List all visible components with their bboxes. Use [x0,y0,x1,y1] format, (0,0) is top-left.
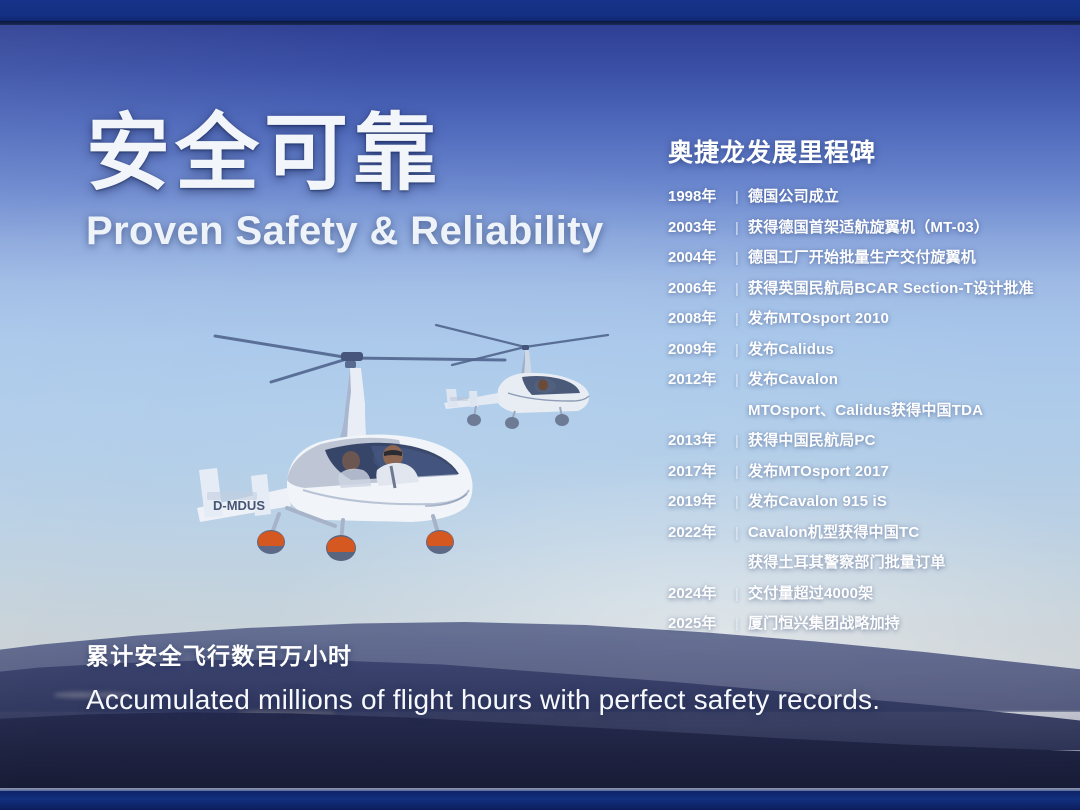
milestone-separator: | [726,341,748,357]
photographed-screen: D-MDUS 安全可靠 Proven Safety & Reliability [0,0,1080,810]
milestone-separator: | [726,249,748,265]
presentation-slide: D-MDUS 安全可靠 Proven Safety & Reliability [0,25,1080,790]
milestone-text: 发布Cavalon 915 iS [748,490,887,511]
milestone-text: 获得土耳其警察部门批量订单 [748,551,946,572]
milestone-text: 发布Cavalon [748,368,838,389]
milestone-separator: | [726,188,748,204]
milestone-row: 2004年|德国工厂开始批量生产交付旋翼机 [668,246,1068,267]
milestone-text: 发布MTOsport 2017 [748,460,889,481]
milestone-row: 2019年|发布Cavalon 915 iS [668,490,1068,511]
milestone-text: 获得英国民航局BCAR Section-T设计批准 [748,277,1034,298]
milestone-row: 2006年|获得英国民航局BCAR Section-T设计批准 [668,277,1068,298]
milestone-separator: | [726,371,748,387]
milestone-text: MTOsport、Calidus获得中国TDA [748,399,983,420]
milestone-year: 2013年 [668,429,726,450]
milestone-year: 2017年 [668,460,726,481]
milestone-text: Cavalon机型获得中国TC [748,521,919,542]
milestone-separator: | [726,463,748,479]
milestone-row: 2012年|发布Cavalon [668,368,1068,389]
aircraft-registration-foreground: D-MDUS [213,498,265,513]
milestone-separator: | [726,432,748,448]
milestone-year: 2019年 [668,490,726,511]
caption-block: 累计安全飞行数百万小时 Accumulated millions of flig… [86,637,906,716]
milestone-row: 2009年|发布Calidus [668,338,1068,359]
milestone-text: 获得中国民航局PC [748,429,876,450]
milestone-year: 2003年 [668,216,726,237]
headline-chinese: 安全可靠 [86,110,646,197]
caption-english: Accumulated millions of flight hours wit… [86,684,906,716]
milestone-row: 1998年|德国公司成立 [668,185,1068,206]
milestone-text: 德国工厂开始批量生产交付旋翼机 [748,246,976,267]
milestone-panel: 奥捷龙发展里程碑 1998年|德国公司成立2003年|获得德国首架适航旋翼机（M… [668,133,1068,643]
milestone-text: 德国公司成立 [748,185,839,206]
milestone-text: 发布Calidus [748,338,834,359]
milestone-row: |获得土耳其警察部门批量订单 [668,551,1068,572]
caption-chinese: 累计安全飞行数百万小时 [86,637,906,671]
milestone-year: 2004年 [668,246,726,267]
milestone-row: 2008年|发布MTOsport 2010 [668,307,1068,328]
screen-bezel-bottom [0,790,1080,810]
milestone-row: |MTOsport、Calidus获得中国TDA [668,399,1068,420]
milestone-year: 2009年 [668,338,726,359]
milestone-year: 2024年 [668,582,726,603]
milestone-list: 1998年|德国公司成立2003年|获得德国首架适航旋翼机（MT-03）2004… [668,185,1068,633]
milestone-text: 发布MTOsport 2010 [748,307,889,328]
milestone-year: 2006年 [668,277,726,298]
milestone-separator: | [726,585,748,601]
milestone-year: 2012年 [668,368,726,389]
milestone-row: 2022年|Cavalon机型获得中国TC [668,521,1068,542]
screen-bezel-top [0,0,1080,25]
milestone-text: 交付量超过4000架 [748,582,873,603]
milestone-year: 1998年 [668,185,726,206]
milestone-year: 2025年 [668,612,726,633]
milestone-row: 2003年|获得德国首架适航旋翼机（MT-03） [668,216,1068,237]
milestone-text: 获得德国首架适航旋翼机（MT-03） [748,216,989,237]
milestone-text: 厦门恒兴集团战略加持 [748,612,900,633]
headline-block: 安全可靠 Proven Safety & Reliability [86,110,646,253]
milestone-row: 2013年|获得中国民航局PC [668,429,1068,450]
milestone-panel-title: 奥捷龙发展里程碑 [668,133,1068,169]
milestone-row: 2017年|发布MTOsport 2017 [668,460,1068,481]
milestone-year: 2008年 [668,307,726,328]
milestone-separator: | [726,615,748,631]
milestone-separator: | [726,310,748,326]
milestone-separator: | [726,219,748,235]
milestone-separator: | [726,493,748,509]
milestone-row: 2025年|厦门恒兴集团战略加持 [668,612,1068,633]
gyrocopter-foreground: D-MDUS [175,330,520,600]
milestone-row: 2024年|交付量超过4000架 [668,582,1068,603]
milestone-separator: | [726,280,748,296]
tail-assembly-foreground: D-MDUS [197,468,291,522]
milestone-year: 2022年 [668,521,726,542]
headline-english: Proven Safety & Reliability [86,209,646,253]
milestone-separator: | [726,524,748,540]
